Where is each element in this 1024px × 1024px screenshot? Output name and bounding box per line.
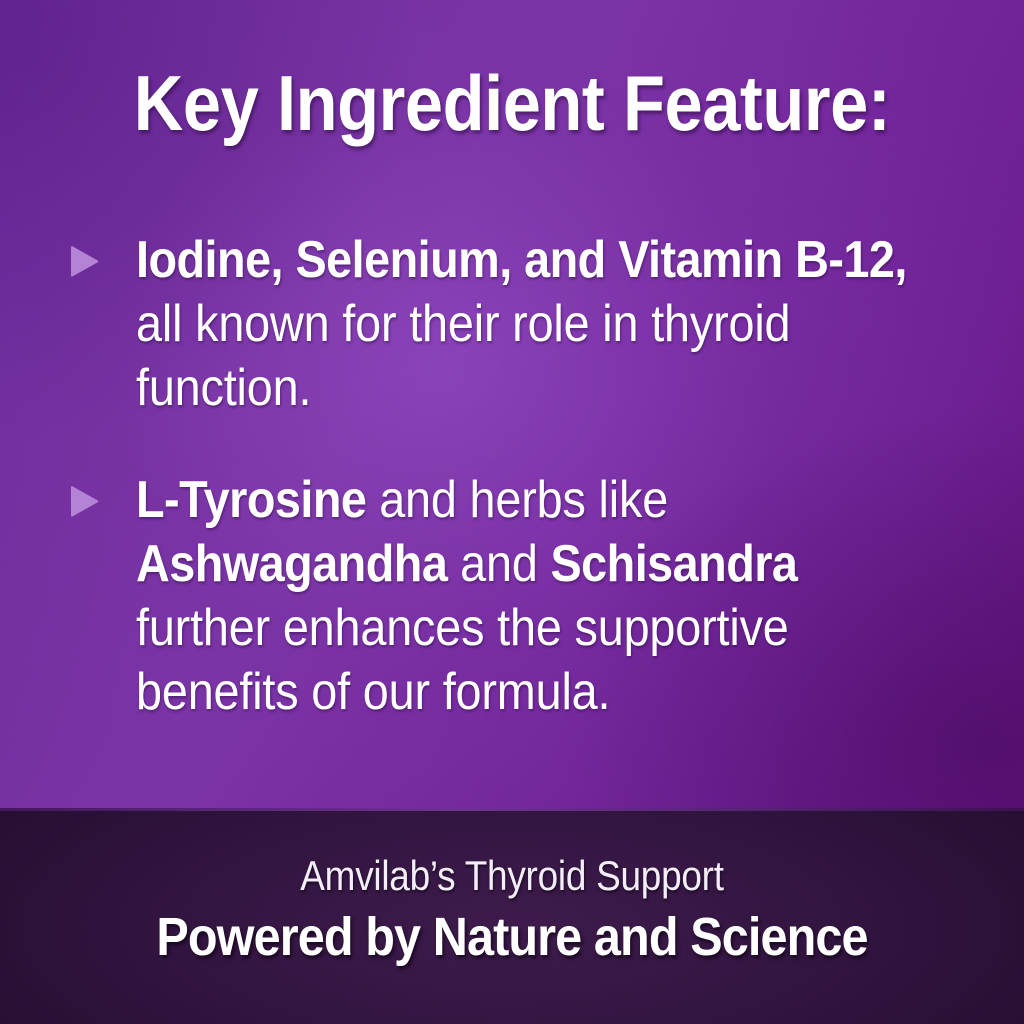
key-ingredient-feature-slide: Key Ingredient Feature: Iodine, Selenium… [0, 0, 1024, 1024]
list-item-text-bold-1a: L-Tyrosine [136, 471, 366, 529]
list-item: Iodine, Selenium, and Vitamin B-12, all … [0, 228, 1024, 420]
list-item-text: Iodine, Selenium, and Vitamin B-12, all … [136, 228, 943, 420]
brand-tagline: Powered by Nature and Science [51, 906, 973, 968]
list-item-text: L-Tyrosine and herbs like Ashwagandha an… [136, 468, 943, 724]
list-item-text-bold-1c: Schisandra [551, 535, 798, 593]
play-triangle-icon [66, 244, 102, 280]
list-item-text-regular-1c: further enhances the supportive benefits… [136, 599, 789, 721]
list-item-text-regular-1b: and [447, 535, 550, 593]
list-item: L-Tyrosine and herbs like Ashwagandha an… [0, 468, 1024, 724]
bullet-list: Iodine, Selenium, and Vitamin B-12, all … [0, 228, 1024, 772]
list-item-text-regular-0: all known for their role in thyroid func… [136, 295, 790, 417]
list-item-text-regular-1a: and herbs like [366, 471, 668, 529]
play-triangle-icon [66, 484, 102, 520]
list-item-text-bold-0: Iodine, Selenium, and Vitamin B-12, [136, 231, 907, 289]
brand-product-name: Amvilab’s Thyroid Support [61, 852, 962, 900]
footer-top-edge-divider [0, 808, 1024, 811]
list-item-text-bold-1b: Ashwagandha [136, 535, 447, 593]
page-title: Key Ingredient Feature: [61, 64, 962, 144]
